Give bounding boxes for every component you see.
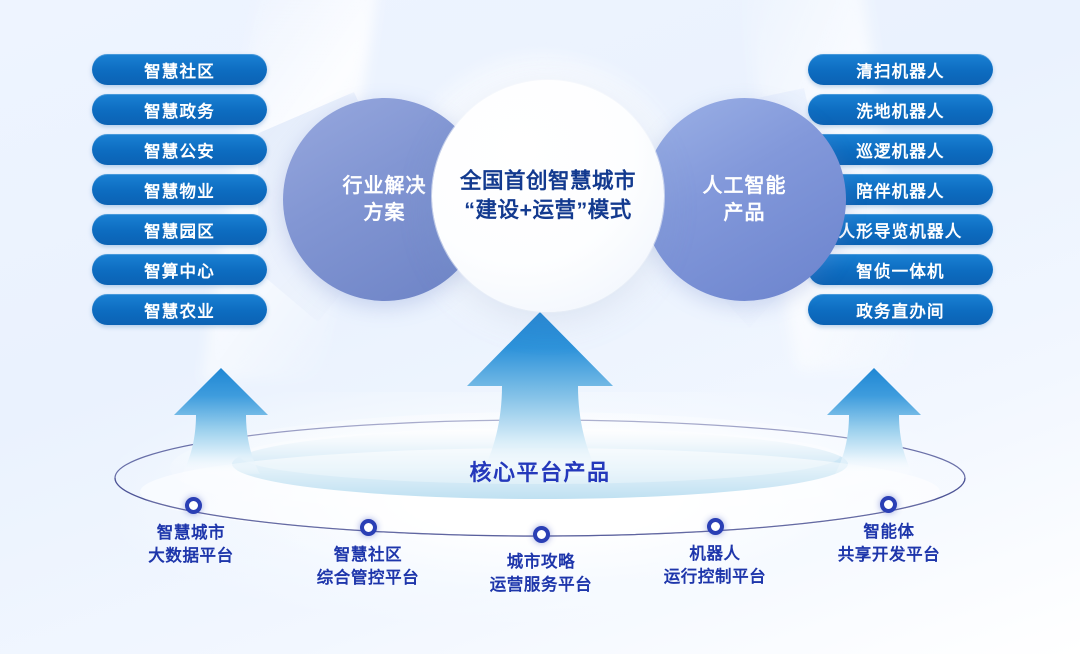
circle-center-line1: 全国首创智慧城市 [460,167,636,196]
pill-label: 智慧农业 [144,298,215,322]
pill-label: 智慧社区 [144,58,215,82]
circle-center-line2: “建设+运营”模式 [464,196,632,225]
node-line1: 智慧城市 [105,522,277,545]
node-line1: 智慧社区 [282,544,454,567]
node-line1: 城市攻略 [455,551,627,574]
platform-node-marker[interactable] [360,519,377,536]
platform-node-marker[interactable] [880,496,897,513]
circle-left-line1: 行业解决 [343,173,427,200]
node-line2: 大数据平台 [105,545,277,568]
infographic-canvas: 核心平台产品 智慧社区 智慧政务 智慧公安 智慧物业 智慧园区 智算中心 智慧农… [0,0,1080,654]
node-line2: 共享开发平台 [803,544,975,567]
pill-label: 智算中心 [144,258,215,282]
sidebar-item-scrubber-robot[interactable]: 洗地机器人 [808,94,993,125]
sidebar-item-cleaning-robot[interactable]: 清扫机器人 [808,54,993,85]
upward-arrow-center [467,312,613,476]
pill-label: 洗地机器人 [856,98,945,122]
sidebar-item-smart-agriculture[interactable]: 智慧农业 [92,294,267,325]
sidebar-item-smart-police[interactable]: 智慧公安 [92,134,267,165]
pill-label: 智慧园区 [144,218,215,242]
sidebar-item-smart-property[interactable]: 智慧物业 [92,174,267,205]
node-line1: 机器人 [629,543,801,566]
pill-label: 智慧物业 [144,178,215,202]
pill-label: 智慧公安 [144,138,215,162]
pill-label: 陪伴机器人 [856,178,945,202]
sidebar-item-smart-community[interactable]: 智慧社区 [92,54,267,85]
circle-left-line2: 方案 [364,200,406,227]
node-line1: 智能体 [803,521,975,544]
platform-node-bigdata[interactable]: 智慧城市 大数据平台 [105,522,277,569]
node-line2: 综合管控平台 [282,567,454,590]
circle-ai-products[interactable]: 人工智能 产品 [643,98,846,301]
sidebar-item-detection-machine[interactable]: 智侦一体机 [808,254,993,285]
circle-right-line1: 人工智能 [703,173,787,200]
sidebar-item-gov-service-room[interactable]: 政务直办间 [808,294,993,325]
sidebar-item-compute-center[interactable]: 智算中心 [92,254,267,285]
sidebar-item-smart-park[interactable]: 智慧园区 [92,214,267,245]
pill-label: 清扫机器人 [856,58,945,82]
circle-right-line2: 产品 [724,200,766,227]
platform-node-marker[interactable] [533,526,550,543]
node-line2: 运营服务平台 [455,574,627,597]
platform-node-robot-control[interactable]: 机器人 运行控制平台 [629,543,801,590]
pill-label: 人形导览机器人 [839,218,963,242]
platform-node-agent-dev[interactable]: 智能体 共享开发平台 [803,521,975,568]
sidebar-item-smart-government[interactable]: 智慧政务 [92,94,267,125]
core-platform-label: 核心平台产品 [0,455,1080,487]
pill-label: 政务直办间 [856,298,945,322]
pill-label: 智慧政务 [144,98,215,122]
platform-node-marker[interactable] [185,497,202,514]
node-line2: 运行控制平台 [629,566,801,589]
platform-node-community-mgmt[interactable]: 智慧社区 综合管控平台 [282,544,454,591]
circle-core-model[interactable]: 全国首创智慧城市 “建设+运营”模式 [432,80,664,312]
platform-node-city-ops[interactable]: 城市攻略 运营服务平台 [455,551,627,598]
pill-label: 巡逻机器人 [856,138,945,162]
pill-label: 智侦一体机 [856,258,945,282]
platform-node-marker[interactable] [707,518,724,535]
